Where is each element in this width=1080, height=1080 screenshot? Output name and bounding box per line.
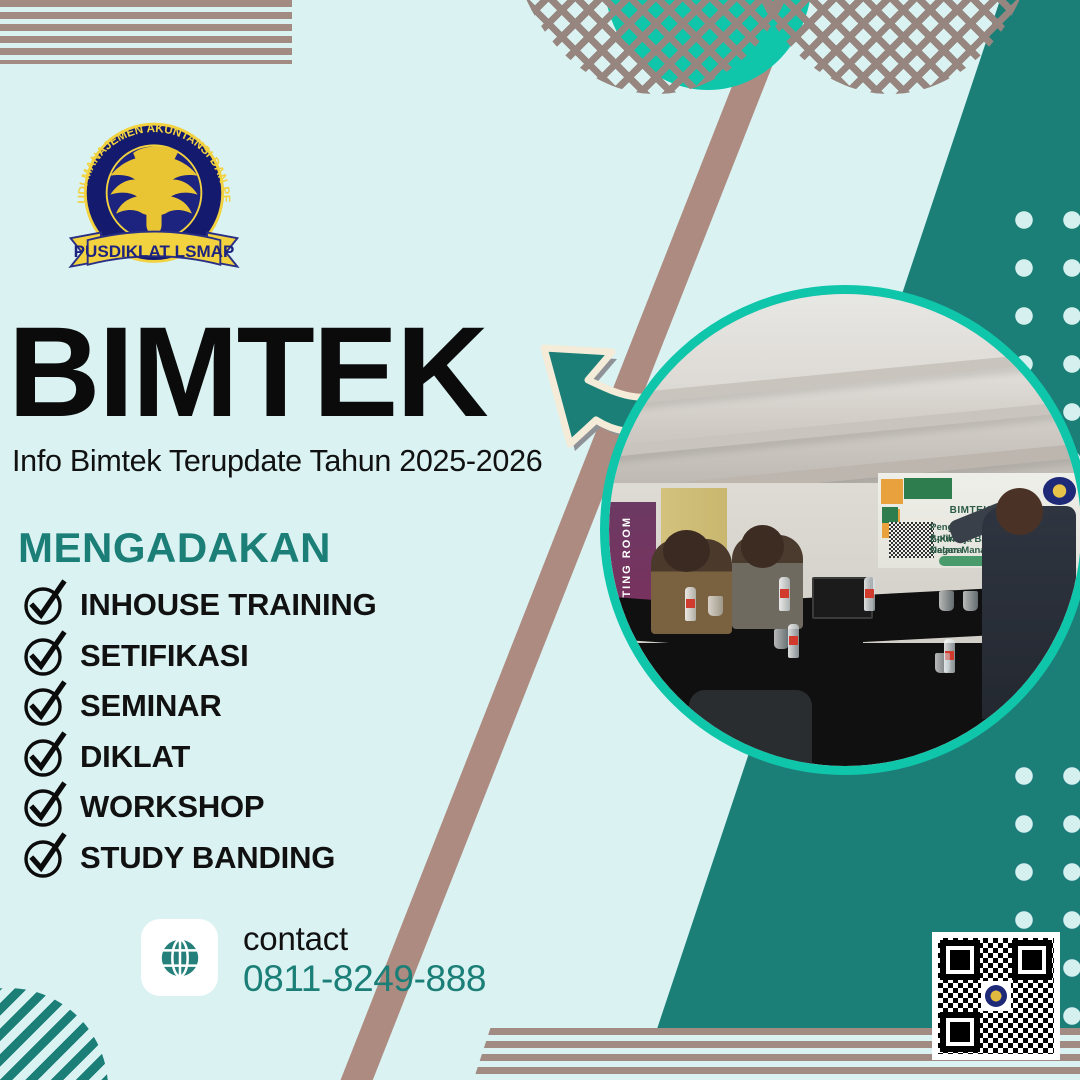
presenter	[982, 506, 1076, 718]
list-item-label: STUDY BANDING	[80, 840, 335, 876]
list-item[interactable]: SETIFIKASI	[22, 631, 542, 682]
qr-code[interactable]	[932, 932, 1060, 1060]
check-circle-icon	[22, 735, 66, 779]
globe-icon	[157, 935, 203, 981]
poster-canvas: LEMBAGA STUDI MANAJEMEN AKUNTANSI DAN PE…	[0, 0, 1080, 1080]
qr-finder-bottom-left	[940, 1012, 980, 1052]
list-item[interactable]: WORKSHOP	[22, 782, 542, 833]
offer-list: INHOUSE TRAINING SETIFIKASI SEMINAR DIKL…	[22, 580, 542, 883]
list-item-label: DIKLAT	[80, 739, 190, 775]
list-item[interactable]: INHOUSE TRAINING	[22, 580, 542, 631]
training-photo: MEETING ROOM BIMTEK TEKNIS Penggunaan & …	[600, 285, 1080, 775]
contact-block: contact 0811-8249-888	[243, 920, 486, 1000]
stripes-top-left	[0, 0, 292, 64]
qr-finder-top-left	[940, 940, 980, 980]
qr-finder-top-right	[1012, 940, 1052, 980]
page-title: BIMTEK	[8, 318, 487, 428]
check-circle-icon	[22, 836, 66, 880]
backdrop-logo	[1043, 477, 1076, 505]
check-circle-icon	[22, 583, 66, 627]
logo-banner-text: PUSDIKLAT LSMAP	[74, 242, 235, 261]
organization-logo: LEMBAGA STUDI MANAJEMEN AKUNTANSI DAN PE…	[58, 98, 250, 278]
check-circle-icon	[22, 785, 66, 829]
check-circle-icon	[22, 634, 66, 678]
list-item-label: SEMINAR	[80, 688, 222, 724]
list-item[interactable]: DIKLAT	[22, 732, 542, 783]
section-heading-mengadakan: MENGADAKAN	[18, 524, 331, 572]
list-item-label: WORKSHOP	[80, 789, 264, 825]
striped-circle-bottom-left	[0, 988, 108, 1080]
contact-label: contact	[243, 920, 486, 958]
contact-phone[interactable]: 0811-8249-888	[243, 958, 486, 1001]
list-item[interactable]: STUDY BANDING	[22, 833, 542, 884]
list-item[interactable]: SEMINAR	[22, 681, 542, 732]
list-item-label: SETIFIKASI	[80, 638, 249, 674]
list-item-label: INHOUSE TRAINING	[80, 587, 376, 623]
qr-center-logo	[981, 981, 1011, 1011]
globe-icon-tile[interactable]	[141, 919, 218, 996]
check-circle-icon	[22, 684, 66, 728]
chevron-arc-right	[740, 0, 1040, 94]
page-subtitle: Info Bimtek Terupdate Tahun 2025-2026	[12, 444, 542, 479]
